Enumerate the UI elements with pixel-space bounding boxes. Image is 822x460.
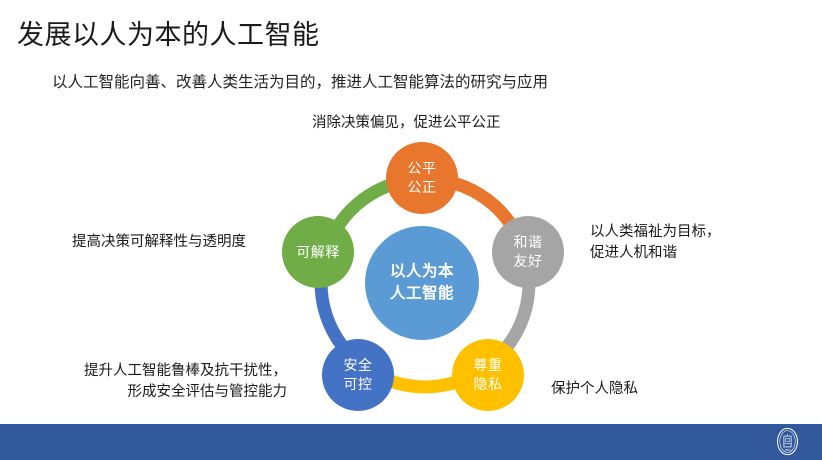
node-harmony-label-line2: 友好 [514,252,543,271]
caption-harmony: 以人类福祉为目标， 促进人机和谐 [590,222,721,264]
node-privacy-label-line2: 隐私 [474,375,503,394]
caption-privacy: 保护个人隐私 [551,379,638,400]
node-privacy[interactable]: 尊重 隐私 [452,339,524,411]
caption-harmony-line2: 促进人机和谐 [590,243,721,264]
center-node-label-line2: 人工智能 [390,283,454,305]
caption-safety-line1: 提升人工智能鲁棒及抗干扰性， [84,361,287,382]
node-fairness-label-line1: 公平 [408,159,437,178]
slide-canvas: 发展以人为本的人工智能 以人工智能向善、改善人类生活为目的，推进人工智能算法的研… [0,0,822,460]
node-explainability[interactable]: 可解释 [282,216,354,288]
node-safety[interactable]: 安全 可控 [322,339,394,411]
center-node-label-line1: 以人为本 [390,261,454,283]
caption-fairness: 消除决策偏见，促进公平公正 [312,113,501,134]
node-safety-label-line1: 安全 [344,356,373,375]
caption-explainability: 提高决策可解释性与透明度 [72,232,246,253]
footer-bar: 1893 [0,424,822,460]
node-fairness[interactable]: 公平 公正 [386,142,458,214]
university-seal-logo-icon: 1893 [773,427,802,456]
node-harmony[interactable]: 和谐 友好 [492,216,564,288]
node-privacy-label-line1: 尊重 [474,356,503,375]
node-harmony-label-line1: 和谐 [514,233,543,252]
svg-text:1893: 1893 [784,448,791,452]
caption-harmony-line1: 以人类福祉为目标， [590,222,721,243]
node-fairness-label-line2: 公正 [408,178,437,197]
caption-safety-line2: 形成安全评估与管控能力 [84,382,287,403]
caption-safety: 提升人工智能鲁棒及抗干扰性， 形成安全评估与管控能力 [84,361,287,403]
cycle-diagram: 以人为本 人工智能 公平 公正 和谐 友好 尊重 隐私 安全 可控 可解释 消除… [0,0,822,460]
center-node-human-centered-ai[interactable]: 以人为本 人工智能 [365,226,479,340]
node-safety-label-line2: 可控 [344,375,373,394]
node-explainability-label-line1: 可解释 [296,243,340,262]
